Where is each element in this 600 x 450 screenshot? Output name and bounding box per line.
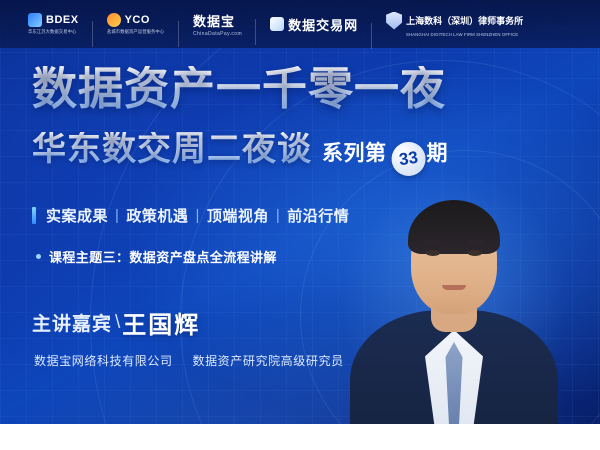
portrait-eye-right [468, 250, 482, 256]
course-topic-text: 课程主题三：数据资产盘点全流程讲解 [49, 247, 277, 266]
headline-secondary-row: 华东数交周二夜谈 系列第 33 期 [32, 132, 448, 172]
speaker-name: 王国辉 [122, 305, 200, 340]
logo-shujubao-subtitle: ChinaDataPay.com [193, 31, 242, 37]
keyword-2: 政策机遇 [126, 205, 188, 226]
exchange-icon [270, 17, 284, 31]
keyword-separator: | [276, 207, 280, 224]
headline-primary: 数据资产一千零一夜 [32, 66, 446, 111]
speaker-title: 数据资产研究院高级研究员 [192, 354, 343, 368]
keyword-separator: | [195, 207, 199, 224]
decorative-arc-icon [300, 150, 600, 450]
portrait-mouth [442, 285, 466, 290]
logo-yco-main: YCO [107, 13, 165, 27]
series-suffix-label: 期 [427, 137, 449, 167]
logo-data-exchange: 数据交易网 [270, 15, 372, 34]
logo-bdex: BDEX 华东江苏大数据交易中心 [28, 13, 93, 35]
keyword-4: 前沿行情 [287, 205, 349, 226]
logo-yco-subtitle: 盐城市数据资产运营服务中心 [107, 29, 164, 35]
course-topic: 课程主题三：数据资产盘点全流程讲解 [36, 247, 277, 266]
speaker-company: 数据宝网络科技有限公司 [34, 354, 173, 368]
logo-law-firm-name: 上海数科（深圳）律师事务所 [406, 14, 523, 27]
portrait-eye-left [426, 250, 440, 256]
keyword-row: 实案成果 | 政策机遇 | 顶端视角 | 前沿行情 [32, 205, 349, 226]
logo-data-exchange-main: 数据交易网 [270, 15, 358, 34]
portrait-hair [408, 200, 500, 254]
issue-number-badge: 33 [389, 140, 427, 178]
logo-data-exchange-name: 数据交易网 [288, 15, 358, 34]
logo-law-firm: 上海数科（深圳）律师事务所 SHANGHAI DIGITECH LAW FIRM… [386, 12, 537, 37]
keyword-1: 实案成果 [46, 205, 108, 226]
logo-law-firm-subtitle: SHANGHAI DIGITECH LAW FIRM SHENZHEN OFFI… [406, 32, 521, 37]
headline-secondary: 华东数交周二夜谈 [32, 132, 312, 166]
shield-icon [386, 12, 402, 30]
accent-bar-icon [32, 207, 36, 224]
bottom-white-strip [0, 424, 600, 450]
series-prefix-label: 系列第 [322, 137, 387, 167]
portrait-head [411, 206, 497, 314]
logo-yco-name: YCO [125, 14, 150, 26]
logo-yco: YCO 盐城市数据资产运营服务中心 [107, 13, 179, 35]
webinar-poster: BDEX 华东江苏大数据交易中心 YCO 盐城市数据资产运营服务中心 数据宝 C… [0, 0, 600, 450]
sponsor-logo-bar: BDEX 华东江苏大数据交易中心 YCO 盐城市数据资产运营服务中心 数据宝 C… [0, 0, 600, 48]
logo-shujubao: 数据宝 ChinaDataPay.com [193, 11, 256, 37]
speaker-role-label: 主讲嘉宾 [32, 309, 112, 336]
logo-bdex-main: BDEX [28, 13, 79, 27]
portrait-neck [431, 296, 477, 332]
logo-bdex-subtitle: 华东江苏大数据交易中心 [28, 29, 78, 35]
speaker-row: 主讲嘉宾 \ 王国辉 [32, 305, 200, 340]
speaker-slash-divider: \ [115, 312, 120, 334]
portrait-halo [339, 170, 569, 430]
keyword-3: 顶端视角 [207, 205, 269, 226]
portrait-eyebrow-right [466, 240, 484, 244]
circle-gradient-icon [107, 13, 121, 27]
speaker-affiliation: 数据宝网络科技有限公司 数据资产研究院高级研究员 [34, 352, 344, 369]
keyword-separator: | [115, 207, 119, 224]
bullet-dot-icon [36, 254, 41, 259]
logo-bdex-name: BDEX [46, 14, 79, 26]
logo-shujubao-name: 数据宝 [193, 11, 242, 30]
square-gradient-icon [28, 13, 42, 27]
logo-law-firm-main: 上海数科（深圳）律师事务所 [386, 12, 523, 30]
portrait-eyebrow-left [424, 240, 442, 244]
speaker-portrait [350, 140, 558, 450]
